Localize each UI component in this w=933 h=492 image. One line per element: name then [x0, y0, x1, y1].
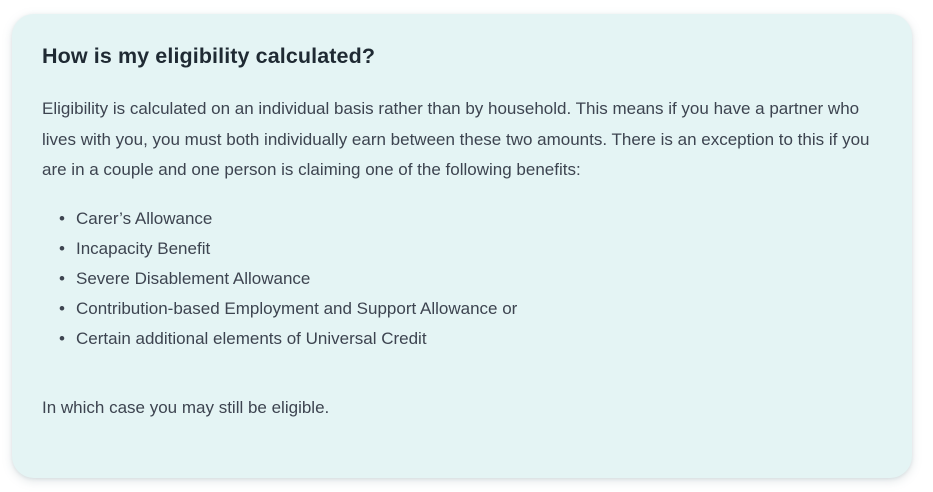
page-title: How is my eligibility calculated?	[30, 42, 880, 70]
eligibility-info-card: How is my eligibility calculated? Eligib…	[12, 14, 912, 478]
list-item: • Severe Disablement Allowance	[76, 264, 880, 294]
page-root: How is my eligibility calculated? Eligib…	[0, 0, 933, 492]
list-item: • Certain additional elements of Univers…	[76, 324, 880, 354]
bullet-icon: •	[59, 234, 65, 264]
list-item-label: Incapacity Benefit	[76, 239, 210, 258]
bullet-icon: •	[59, 264, 65, 294]
bullet-icon: •	[59, 324, 65, 354]
intro-paragraph: Eligibility is calculated on an individu…	[30, 94, 880, 186]
list-item-label: Contribution-based Employment and Suppor…	[76, 299, 517, 318]
list-item: • Incapacity Benefit	[76, 234, 880, 264]
list-item-label: Certain additional elements of Universal…	[76, 329, 427, 348]
list-item-label: Severe Disablement Allowance	[76, 269, 310, 288]
bullet-icon: •	[59, 294, 65, 324]
closing-paragraph: In which case you may still be eligible.	[30, 393, 880, 424]
list-item: • Contribution-based Employment and Supp…	[76, 294, 880, 324]
list-item: • Carer’s Allowance	[76, 204, 880, 234]
bullet-icon: •	[59, 204, 65, 234]
benefits-list: • Carer’s Allowance • Incapacity Benefit…	[30, 204, 880, 354]
list-item-label: Carer’s Allowance	[76, 209, 212, 228]
